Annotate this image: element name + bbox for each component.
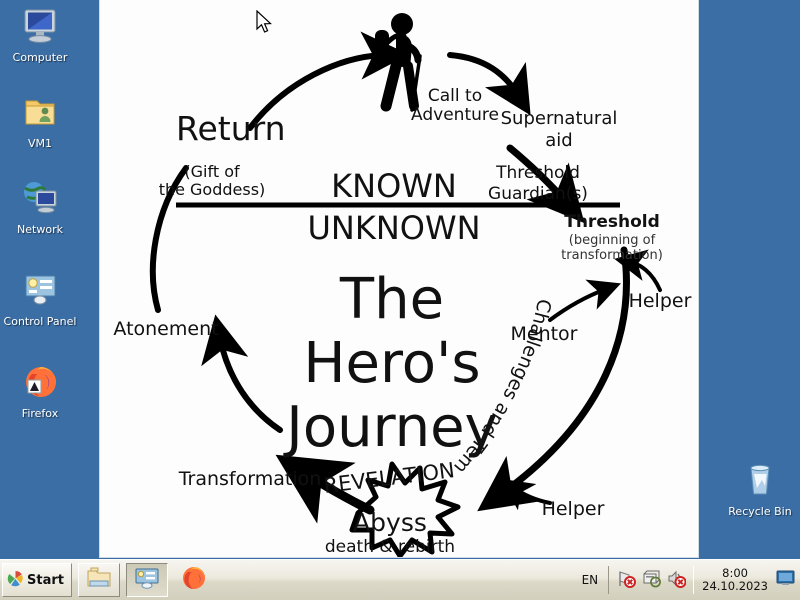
folder-icon	[86, 567, 112, 593]
label-atonement: Atonement	[113, 318, 218, 340]
desktop-icon-recycle-bin[interactable]: Recycle Bin	[720, 460, 800, 518]
taskbar-task-image-viewer[interactable]	[126, 563, 168, 597]
label-threshold-guardians-2: Guardian(s)	[488, 184, 588, 204]
vm1-folder-icon	[0, 92, 80, 134]
label-revelation: REVELATION	[322, 458, 456, 498]
label-gift-of-goddess-1: (Gift of	[184, 162, 240, 181]
image-viewer-icon	[134, 567, 160, 593]
firefox-icon	[181, 565, 207, 595]
show-desktop-button[interactable]	[776, 570, 796, 590]
label-supernatural-aid-1: Supernatural	[501, 108, 618, 129]
label-call-to-adventure-1: Call to	[428, 86, 482, 106]
label-abyss: Abyss	[353, 508, 427, 537]
language-indicator[interactable]: EN	[572, 573, 609, 587]
label-threshold-sub-1: (beginning of	[569, 233, 656, 248]
label-unknown: UNKNOWN	[307, 209, 480, 247]
desktop-icon-label: VM1	[0, 137, 80, 150]
volume-muted-icon[interactable]	[667, 569, 686, 592]
label-helper-top: Helper	[629, 290, 692, 312]
windows-logo-icon	[7, 570, 24, 591]
taskbar-task-file-explorer[interactable]	[78, 563, 120, 597]
desktop-icon-label: Control Panel	[0, 315, 80, 328]
desktop-icon-control-panel[interactable]: Control Panel	[0, 270, 80, 328]
helper-top-arrow	[630, 262, 660, 290]
label-call-to-adventure-2: Adventure	[411, 105, 499, 125]
desktop[interactable]: Computer VM1 Network	[0, 0, 800, 600]
tray-icons[interactable]	[608, 566, 694, 594]
desktop-icon-label: Computer	[0, 51, 80, 64]
control-panel-icon	[0, 270, 80, 312]
firefox-icon	[0, 362, 80, 404]
system-tray[interactable]: EN	[572, 560, 800, 600]
label-death-and-rebirth: death & rebirth	[325, 537, 455, 557]
network-error-icon[interactable]	[617, 569, 636, 592]
desktop-icon-firefox[interactable]: Firefox	[0, 362, 80, 420]
label-supernatural-aid-2: aid	[545, 130, 572, 151]
network-icon	[0, 178, 80, 220]
start-button[interactable]: Start	[2, 563, 72, 597]
label-gift-of-goddess-2: the Goddess)	[159, 180, 266, 199]
desktop-icon-vm1[interactable]: VM1	[0, 92, 80, 150]
hero-journey-diagram: Return (Gift of the Goddess) Call to Adv…	[100, 0, 698, 557]
desktop-icon-label: Network	[0, 223, 80, 236]
desktop-icon-computer[interactable]: Computer	[0, 6, 80, 64]
mentor-arrow	[550, 289, 606, 320]
mouse-cursor	[256, 10, 274, 40]
clock-date: 24.10.2023	[702, 580, 768, 593]
diagram-title-line-3: Journey	[283, 395, 497, 460]
computer-icon	[0, 6, 80, 48]
taskbar[interactable]: Start	[0, 559, 800, 600]
usb-eject-icon[interactable]	[642, 569, 661, 592]
diagram-title-line-1: The	[339, 267, 444, 332]
image-viewer-window[interactable]: Return (Gift of the Goddess) Call to Adv…	[100, 0, 698, 557]
hiker-figure	[375, 13, 420, 110]
start-button-label: Start	[27, 573, 64, 588]
diagram-title-line-2: Hero's	[303, 331, 480, 396]
label-return: Return	[176, 109, 286, 148]
label-known: KNOWN	[331, 167, 457, 205]
desktop-icon-label: Firefox	[0, 407, 80, 420]
clock[interactable]: 8:00 24.10.2023	[694, 567, 776, 593]
desktop-icon-network[interactable]: Network	[0, 178, 80, 236]
taskbar-task-firefox[interactable]	[174, 564, 214, 596]
transformation-to-atonement-arrow	[220, 338, 280, 430]
recycle-bin-icon	[720, 460, 800, 502]
label-threshold-sub-2: transformation)	[561, 248, 663, 263]
label-helper-bottom: Helper	[542, 498, 605, 520]
label-threshold-title: Threshold	[564, 212, 660, 232]
label-threshold-guardians-1: Threshold	[495, 163, 580, 183]
desktop-icon-label: Recycle Bin	[720, 505, 800, 518]
label-transformation: Transformation	[178, 468, 322, 490]
